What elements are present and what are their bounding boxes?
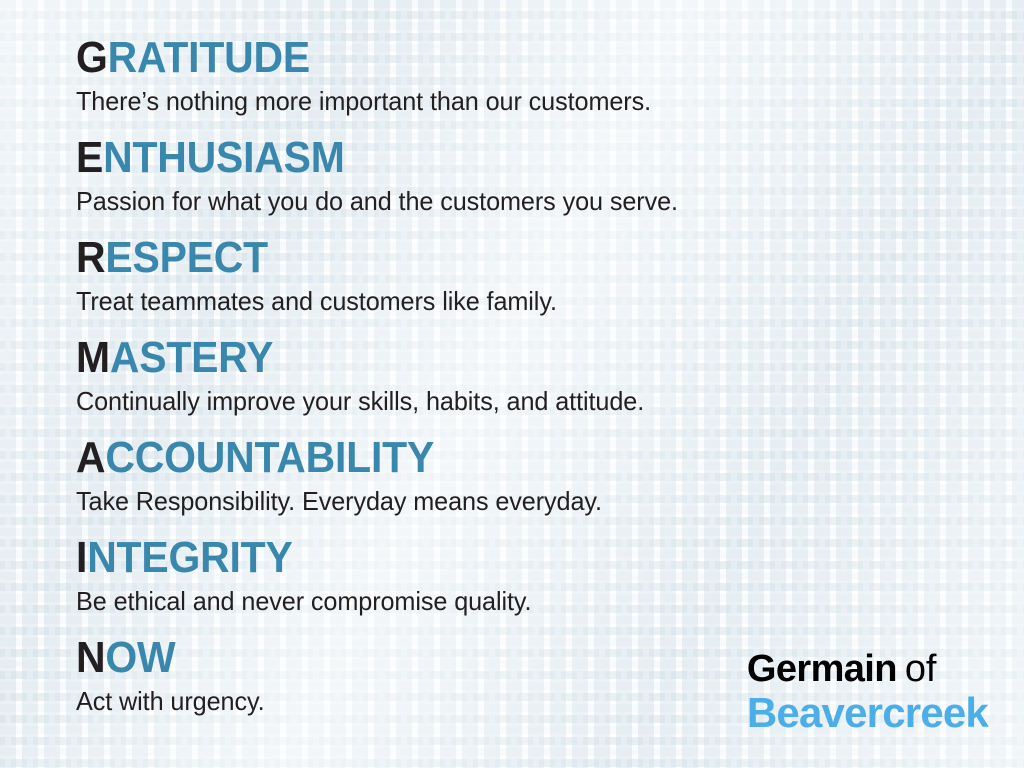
value-block-respect: RESPECT Treat teammates and customers li… xyxy=(76,236,976,336)
value-block-gratitude: GRATITUDE There’s nothing more important… xyxy=(76,36,976,136)
value-subtitle-integrity: Be ethical and never compromise quality. xyxy=(76,586,949,616)
value-heading-remainder: RATITUDE xyxy=(108,33,310,82)
dealership-logo: Germainof Beavercreek xyxy=(747,648,988,736)
value-heading-enthusiasm: ENTHUSIASM xyxy=(76,136,913,180)
value-block-accountability: ACCOUNTABILITY Take Responsibility. Ever… xyxy=(76,436,976,536)
value-subtitle-mastery: Continually improve your skills, habits,… xyxy=(76,386,949,416)
value-heading-integrity: INTEGRITY xyxy=(76,536,913,580)
value-initial-letter: M xyxy=(76,333,110,382)
value-subtitle-accountability: Take Responsibility. Everyday means ever… xyxy=(76,486,949,516)
value-heading-remainder: NTEGRITY xyxy=(87,533,292,582)
value-block-enthusiasm: ENTHUSIASM Passion for what you do and t… xyxy=(76,136,976,236)
value-heading-gratitude: GRATITUDE xyxy=(76,36,913,80)
value-heading-respect: RESPECT xyxy=(76,236,913,280)
values-poster: GRATITUDE There’s nothing more important… xyxy=(0,0,1024,768)
value-subtitle-gratitude: There’s nothing more important than our … xyxy=(76,86,949,116)
value-heading-remainder: OW xyxy=(105,633,175,682)
value-initial-letter: N xyxy=(76,633,105,682)
value-heading-remainder: ASTERY xyxy=(110,333,273,382)
value-subtitle-enthusiasm: Passion for what you do and the customer… xyxy=(76,186,949,216)
value-heading-mastery: MASTERY xyxy=(76,336,913,380)
logo-location-name: Beavercreek xyxy=(747,690,988,736)
logo-brand-name: Germain xyxy=(747,648,897,690)
value-heading-remainder: CCOUNTABILITY xyxy=(105,433,434,482)
value-initial-letter: I xyxy=(76,533,87,582)
logo-connector-word: of xyxy=(905,648,936,690)
value-heading-accountability: ACCOUNTABILITY xyxy=(76,436,913,480)
value-subtitle-respect: Treat teammates and customers like famil… xyxy=(76,286,949,316)
value-block-integrity: INTEGRITY Be ethical and never compromis… xyxy=(76,536,976,636)
core-values-list: GRATITUDE There’s nothing more important… xyxy=(76,36,976,736)
value-initial-letter: E xyxy=(76,133,103,182)
value-initial-letter: R xyxy=(76,233,105,282)
value-heading-remainder: ESPECT xyxy=(105,233,268,282)
value-initial-letter: A xyxy=(76,433,105,482)
value-initial-letter: G xyxy=(76,33,108,82)
value-block-mastery: MASTERY Continually improve your skills,… xyxy=(76,336,976,436)
logo-top-line: Germainof xyxy=(747,648,988,690)
value-heading-remainder: NTHUSIASM xyxy=(103,133,345,182)
